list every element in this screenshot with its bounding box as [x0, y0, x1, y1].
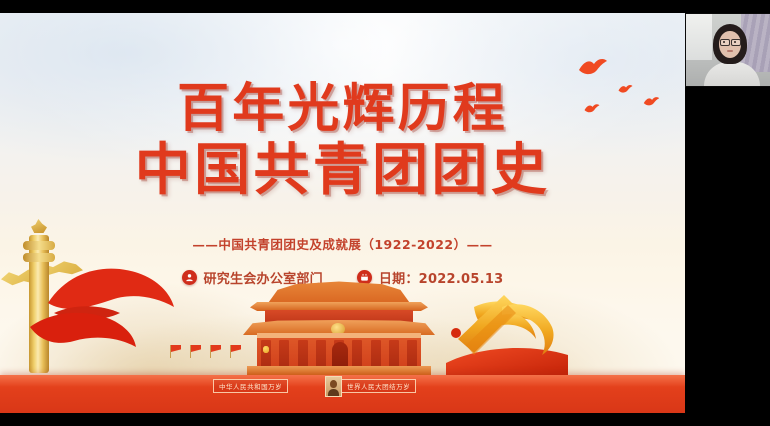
leader-portrait: [325, 376, 342, 397]
participant-video-tile[interactable]: [685, 13, 770, 87]
gate-pillar: [316, 340, 326, 367]
small-flag-row: [170, 345, 246, 361]
small-flag-icon: [170, 345, 181, 358]
small-flag-icon: [190, 345, 201, 358]
gate-pillar: [298, 340, 308, 367]
slogan-left: 中华人民共和国万岁: [213, 379, 288, 393]
dove-icon: [578, 57, 608, 77]
small-flag-icon: [210, 345, 221, 358]
presentation-slide[interactable]: 百年光辉历程 中国共青团团史 ——中国共青团团史及成就展（1922-2022）—…: [0, 13, 685, 413]
person-icon: [182, 270, 197, 285]
gate-pillar: [352, 340, 362, 367]
slogan-right: 世界人民大团结万岁: [341, 379, 416, 393]
gate-pillar: [261, 340, 271, 367]
gate-wall-top: [257, 333, 421, 338]
glasses-icon: [720, 39, 730, 46]
gate-pillar: [389, 340, 399, 367]
eye-shape: [723, 41, 725, 43]
window-shape: [686, 14, 712, 60]
slide-subtitle: ——中国共青团团史及成就展（1922-2022）——: [0, 234, 685, 253]
party-emblem-icon: [444, 277, 570, 377]
title-block: 百年光辉历程 中国共青团团史: [0, 83, 685, 199]
red-ribbon: [28, 305, 138, 361]
participant-face: [719, 31, 741, 58]
tiananmen-gate: [243, 280, 435, 375]
huabiao-finial: [31, 219, 47, 233]
mouth-shape: [727, 50, 733, 52]
huabiao-ring-top: [23, 241, 55, 250]
small-flag-icon: [230, 345, 241, 358]
slide-title-line-1: 百年光辉历程: [0, 83, 685, 135]
screen-root: 百年光辉历程 中国共青团团史 ——中国共青团团史及成就展（1922-2022）—…: [0, 0, 770, 426]
gate-base: [247, 366, 431, 375]
huabiao-ring-mid: [23, 253, 55, 262]
gate-pillar: [407, 340, 417, 367]
gate-pillar: [371, 340, 381, 367]
eye-shape: [734, 41, 736, 43]
slide-title-line-2: 中国共青团团史: [0, 143, 685, 199]
lantern-icon: [263, 346, 269, 353]
glasses-icon: [731, 39, 741, 46]
gate-pillar: [279, 340, 289, 367]
bottom-red-banner: 中华人民共和国万岁 世界人民大团结万岁: [0, 375, 685, 413]
gate-archway: [332, 342, 348, 367]
